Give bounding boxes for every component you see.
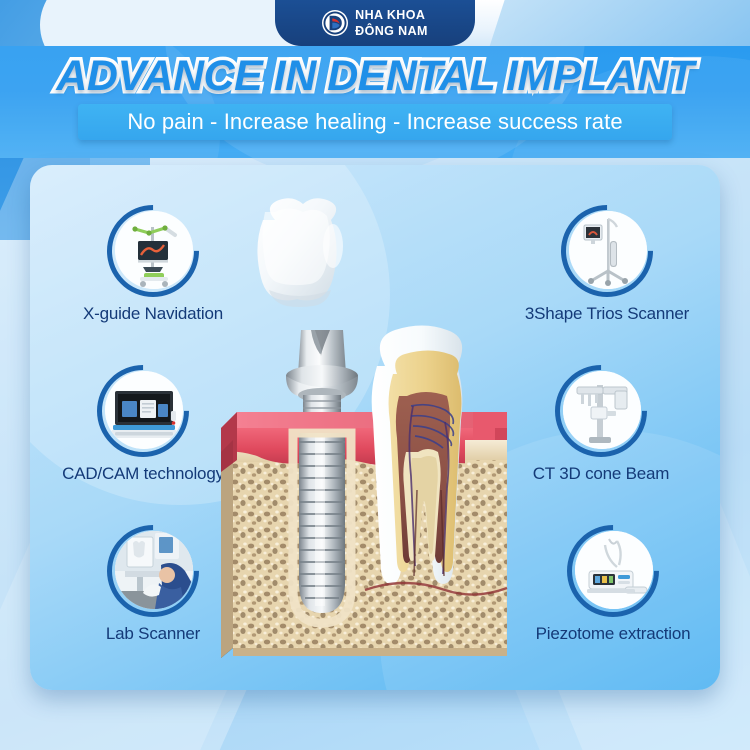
feature-badge — [561, 205, 653, 297]
implant-screw — [293, 433, 351, 623]
ct-cone-beam-icon — [563, 371, 641, 449]
piezotome-icon — [575, 531, 653, 609]
trabecular-bone-right — [465, 440, 507, 648]
crown — [257, 198, 343, 307]
bone-block — [221, 440, 507, 658]
feature-badge — [107, 205, 199, 297]
content-card: X-guide Navidation — [30, 165, 720, 690]
dental-implant-cross-section — [215, 190, 545, 680]
feature-badge — [555, 365, 647, 457]
brand-name: NHA KHOA ĐÔNG NAM — [355, 7, 428, 39]
header-wave-right — [469, 0, 750, 52]
natural-tooth — [372, 326, 463, 585]
brand-line-2: ĐÔNG NAM — [355, 24, 428, 38]
feature-badge — [567, 525, 659, 617]
dongnam-logo-icon — [322, 10, 348, 36]
trios-scanner-icon — [569, 211, 647, 289]
page-title: ADVANCE IN DENTAL IMPLANT — [0, 52, 750, 101]
lab-scanner-icon — [115, 531, 193, 609]
title-band: ADVANCE IN DENTAL IMPLANT No pain - Incr… — [0, 46, 750, 158]
brand-line-1: NHA KHOA — [355, 8, 425, 22]
brand-logo-tab[interactable]: NHA KHOA ĐÔNG NAM — [275, 0, 475, 46]
feature-badge — [107, 525, 199, 617]
feature-badge — [97, 365, 189, 457]
navigation-cart-icon — [115, 211, 193, 289]
abutment — [286, 330, 358, 402]
subtitle-banner: No pain - Increase healing - Increase su… — [78, 104, 672, 140]
laptop-monitor-icon — [105, 371, 183, 449]
subtitle-text: No pain - Increase healing - Increase su… — [127, 109, 622, 135]
